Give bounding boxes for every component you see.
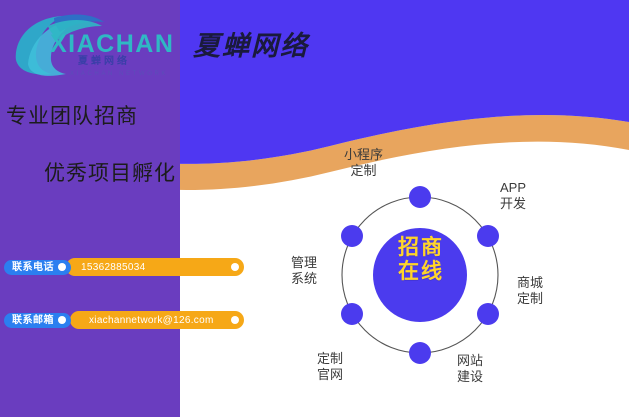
contact-email-tag: 联系邮箱 <box>4 313 71 328</box>
diagram-center-line1: 招商 <box>385 236 457 260</box>
node-label-mini-program-line1: 小程序 <box>344 147 383 163</box>
node-label-mall[interactable]: 商城 定制 <box>517 275 543 308</box>
logo-chinese-name: 夏蝉网络 <box>78 57 130 67</box>
contact-email-value[interactable]: xiachannetwork@126.com <box>89 315 214 326</box>
bar-end-dot-icon <box>231 316 239 324</box>
node-label-app[interactable]: APP 开发 <box>500 180 526 213</box>
node-label-mall-line1: 商城 <box>517 275 543 291</box>
contact-email-tag-label: 联系邮箱 <box>12 313 54 328</box>
diagram-node-website <box>409 342 431 364</box>
node-label-website-line1: 网站 <box>457 353 483 369</box>
diagram-node-mini-program <box>409 186 431 208</box>
node-label-app-line2: 开发 <box>500 196 526 212</box>
node-label-official-site[interactable]: 定制 官网 <box>317 351 343 384</box>
diagram-node-official-site <box>341 303 363 325</box>
diagram-node-app <box>477 225 499 247</box>
contact-email-row[interactable]: 联系邮箱 xiachannetwork@126.com <box>4 311 214 329</box>
node-label-management-line2: 系统 <box>291 271 317 287</box>
page-title: 夏蝉网络 <box>193 24 309 63</box>
node-label-mall-line2: 定制 <box>517 291 543 307</box>
node-label-official-site-line2: 官网 <box>317 367 343 383</box>
slogan-secondary: 优秀项目孵化 <box>44 157 176 187</box>
node-label-website-line2: 建设 <box>457 369 483 385</box>
diagram-node-management <box>341 225 363 247</box>
diagram-center-label: 招商 在线 <box>385 236 457 285</box>
brand-logo[interactable]: XIACHAN 夏蝉网络 XIACHAN NETWORK <box>8 8 176 80</box>
node-label-management[interactable]: 管理 系统 <box>291 255 317 288</box>
contact-phone-row[interactable]: 联系电话 15362885034 <box>4 258 145 276</box>
logo-wordmark: XIACHAN <box>50 32 174 57</box>
contact-phone-value[interactable]: 15362885034 <box>81 262 145 273</box>
bar-end-dot-icon <box>231 263 239 271</box>
contact-phone-tag-label: 联系电话 <box>12 260 54 275</box>
slogan-primary: 专业团队招商 <box>6 100 138 130</box>
node-label-management-line1: 管理 <box>291 255 317 271</box>
node-label-mini-program[interactable]: 小程序 定制 <box>344 147 383 180</box>
node-label-app-line1: APP <box>500 180 526 196</box>
tag-dot-icon <box>58 263 66 271</box>
tag-dot-icon <box>58 316 66 324</box>
poster-canvas: XIACHAN 夏蝉网络 XIACHAN NETWORK 专业团队招商 优秀项目… <box>0 0 629 417</box>
diagram-node-mall <box>477 303 499 325</box>
node-label-official-site-line1: 定制 <box>317 351 343 367</box>
node-label-mini-program-line2: 定制 <box>344 163 383 179</box>
diagram-center-line2: 在线 <box>385 260 457 284</box>
contact-phone-tag: 联系电话 <box>4 260 71 275</box>
node-label-website[interactable]: 网站 建设 <box>457 353 483 386</box>
logo-subtitle: XIACHAN NETWORK <box>70 71 168 77</box>
